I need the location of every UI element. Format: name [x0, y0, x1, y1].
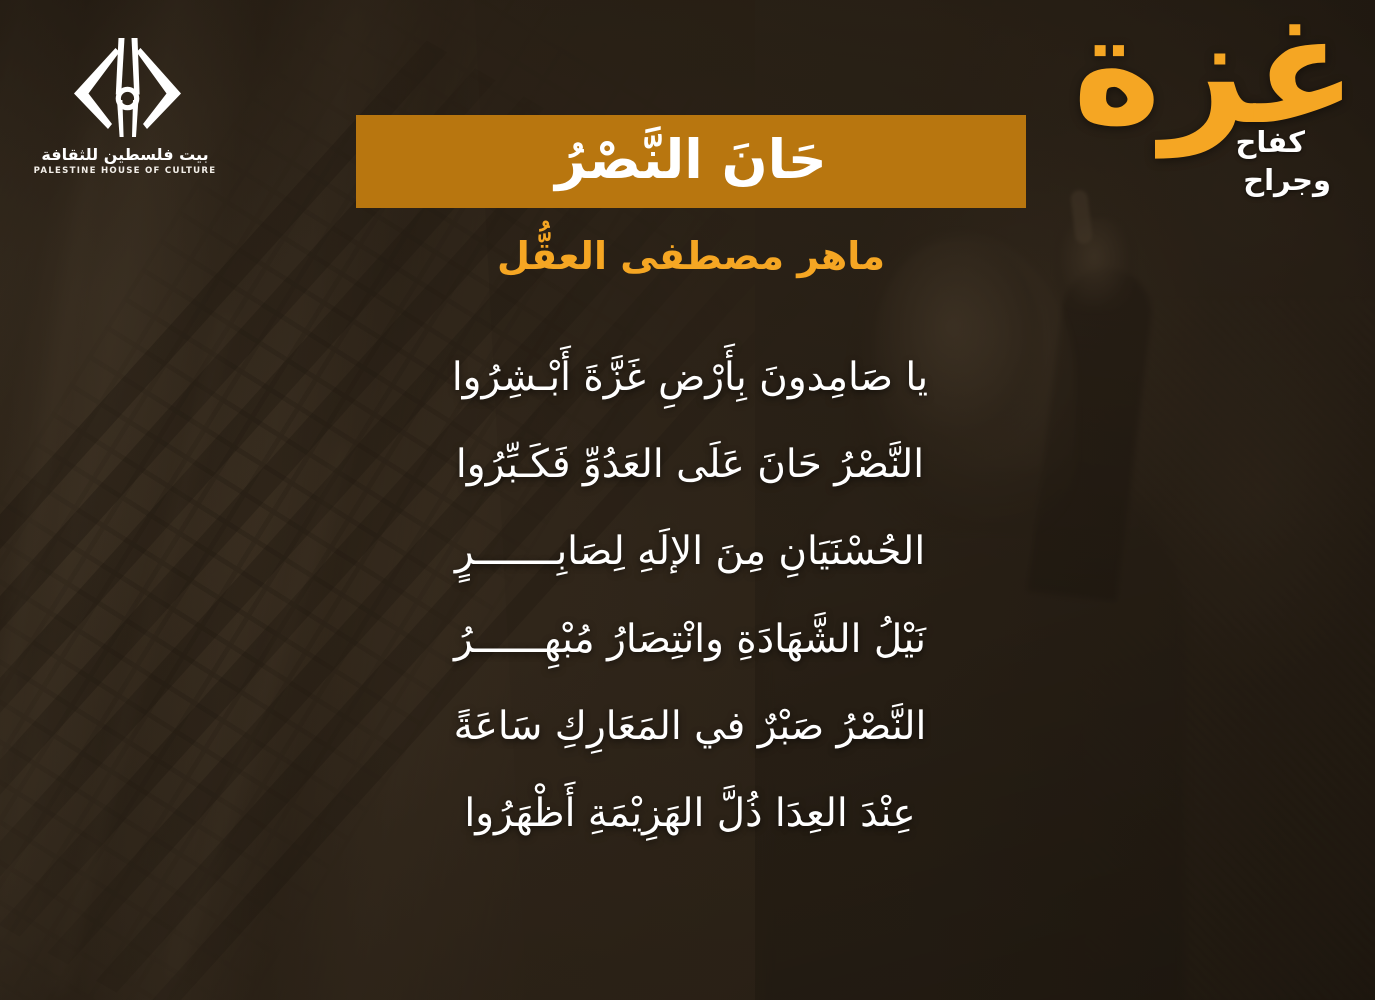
author-name: ماهر مصطفى العقُّل: [356, 234, 1026, 280]
poem-line: نَيْلُ الشَّهَادَةِ وانْتِصَارُ مُبْهِــ…: [240, 608, 1140, 671]
poem-line: الحُسْنَيَانِ مِنَ الإلَهِ لِصَابِــــــ…: [240, 520, 1140, 583]
gaza-badge-logo: غزة كفاح وجراح: [1161, 12, 1361, 217]
figure-finger: [1070, 189, 1093, 245]
keffiyeh-fold: [48, 308, 239, 993]
gaza-subtitle-jirah: وجراح: [1243, 166, 1331, 195]
pen-nib-icon: [66, 36, 184, 140]
poster-canvas: بيت فلسطين للثقافة PALESTINE HOUSE OF CU…: [0, 0, 1375, 1000]
figure-raised-hand-icon: [1055, 218, 1133, 310]
gaza-word: غزة: [1073, 0, 1357, 146]
title-banner: حَانَ النَّصْرُ: [356, 115, 1026, 208]
gaza-subtitle-kifah: كفاح: [1235, 128, 1305, 157]
poem-line: النَّصْرُ حَانَ عَلَى العَدُوِّ فَكَـبِّ…: [240, 433, 1140, 496]
logo-name-english: PALESTINE HOUSE OF CULTURE: [30, 167, 220, 176]
palestine-house-of-culture-logo: بيت فلسطين للثقافة PALESTINE HOUSE OF CU…: [30, 36, 220, 176]
poem-line: عِنْدَ العِدَا ذُلَّ الهَزِيْمَةِ أَظْهَ…: [240, 782, 1140, 845]
logo-name-arabic: بيت فلسطين للثقافة: [30, 146, 220, 164]
poem-line: يا صَامِدونَ بِأَرْضِ غَزَّةَ أَبْـشِرُو…: [240, 346, 1140, 409]
poem-line: النَّصْرُ صَبْرٌ في المَعَارِكِ سَاعَةً: [240, 695, 1140, 758]
poem-body: يا صَامِدونَ بِأَرْضِ غَزَّةَ أَبْـشِرُو…: [240, 346, 1140, 845]
page-title: حَانَ النَّصْرُ: [555, 133, 827, 191]
keffiyeh-fold: [0, 123, 110, 957]
